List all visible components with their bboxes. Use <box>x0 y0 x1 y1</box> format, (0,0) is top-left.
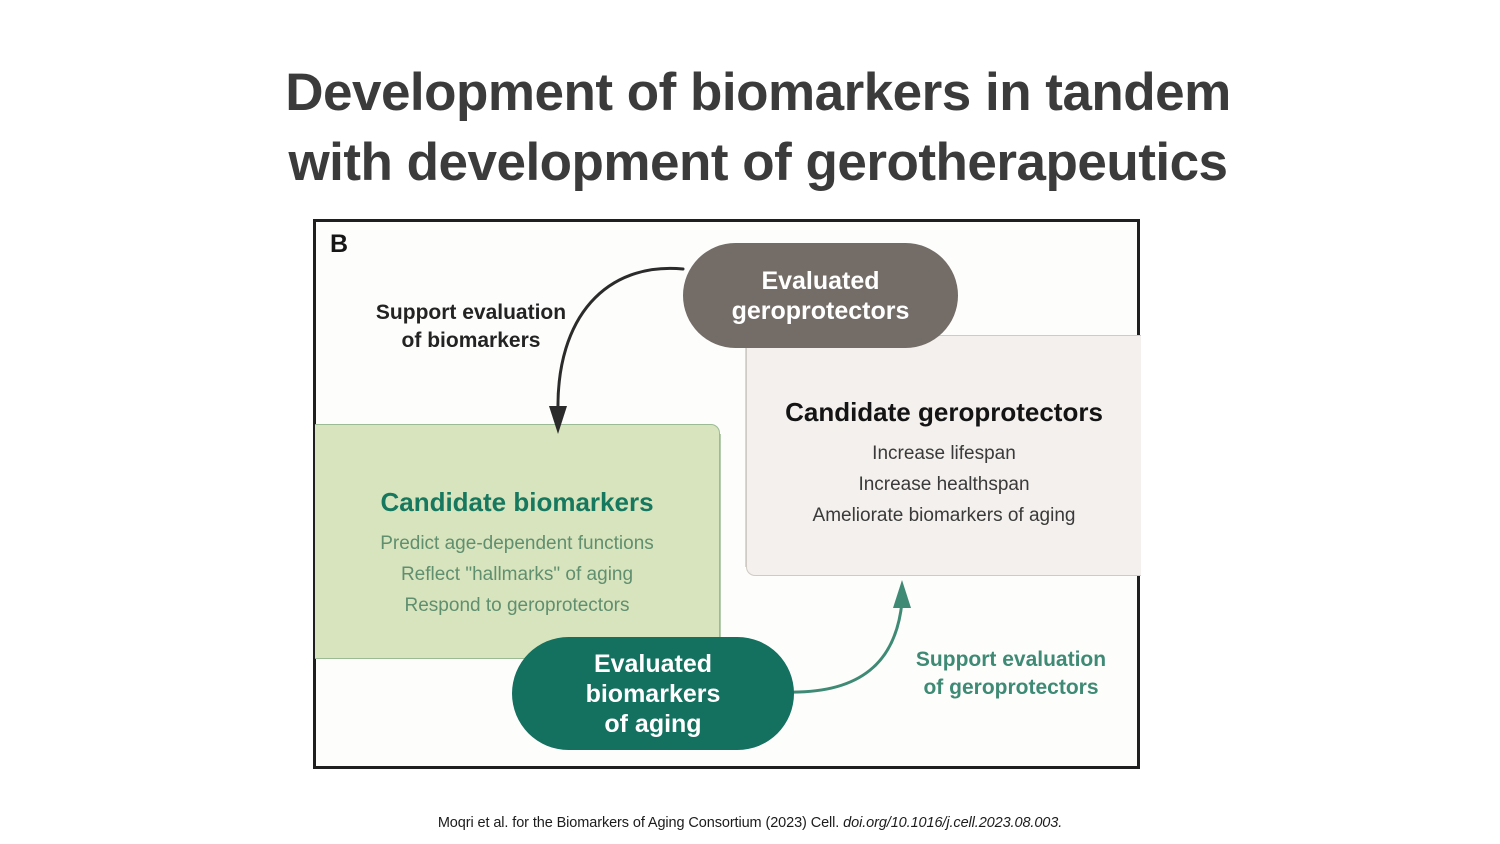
annotation-support-evaluation-of-geroprotectors: Support evaluation of geroprotectors <box>886 646 1136 701</box>
candidate-geroprotectors-heading: Candidate geroprotectors <box>747 397 1141 428</box>
annotation-support-geroprotectors-line-2: of geroprotectors <box>886 674 1136 702</box>
candidate-geroprotectors-panel: Candidate geroprotectors Increase lifesp… <box>746 335 1141 576</box>
panel-letter-label: B <box>330 230 348 259</box>
evaluated-geroprotectors-pill[interactable]: Evaluated geroprotectors <box>683 243 958 348</box>
annotation-support-evaluation-of-biomarkers: Support evaluation of biomarkers <box>336 299 606 354</box>
figure-panel-b: B Candidate geroprotectors Increase life… <box>313 219 1140 769</box>
annotation-support-geroprotectors-line-1: Support evaluation <box>886 646 1136 674</box>
candidate-biomarkers-heading: Candidate biomarkers <box>315 487 719 518</box>
citation-doi: doi.org/10.1016/j.cell.2023.08.003. <box>843 815 1062 831</box>
candidate-biomarkers-bullet-1: Predict age-dependent functions <box>315 528 719 559</box>
candidate-biomarkers-panel: Candidate biomarkers Predict age-depende… <box>315 424 720 659</box>
evaluated-biomarkers-line-1: Evaluated <box>586 649 721 679</box>
candidate-biomarkers-bullet-2: Reflect "hallmarks" of aging <box>315 559 719 590</box>
support-geroprotectors-arrow-path <box>786 602 902 692</box>
candidate-geroprotectors-bullet-3: Ameliorate biomarkers of aging <box>747 501 1141 532</box>
candidate-geroprotectors-bullet-1: Increase lifespan <box>747 439 1141 470</box>
support-geroprotectors-arrow-head <box>893 580 911 608</box>
annotation-support-biomarkers-line-1: Support evaluation <box>336 299 606 327</box>
page-title-line-1: Development of biomarkers in tandem <box>243 58 1273 128</box>
candidate-geroprotectors-bullet-2: Increase healthspan <box>747 470 1141 501</box>
citation-text: Moqri et al. for the Biomarkers of Aging… <box>438 815 839 831</box>
candidate-biomarkers-bullet-3: Respond to geroprotectors <box>315 590 719 621</box>
evaluated-biomarkers-line-2: biomarkers <box>586 679 721 709</box>
evaluated-biomarkers-pill[interactable]: Evaluated biomarkers of aging <box>512 637 794 750</box>
candidate-biomarkers-bullets: Predict age-dependent functions Reflect … <box>315 528 719 621</box>
page-title: Development of biomarkers in tandem with… <box>243 58 1273 198</box>
page-title-line-2: with development of gerotherapeutics <box>243 128 1273 198</box>
evaluated-geroprotectors-line-1: Evaluated <box>732 266 910 296</box>
evaluated-biomarkers-line-3: of aging <box>586 709 721 739</box>
evaluated-geroprotectors-line-2: geroprotectors <box>732 296 910 326</box>
annotation-support-biomarkers-line-2: of biomarkers <box>336 327 606 355</box>
candidate-geroprotectors-bullets: Increase lifespan Increase healthspan Am… <box>747 439 1141 531</box>
citation: Moqri et al. for the Biomarkers of Aging… <box>0 815 1500 831</box>
